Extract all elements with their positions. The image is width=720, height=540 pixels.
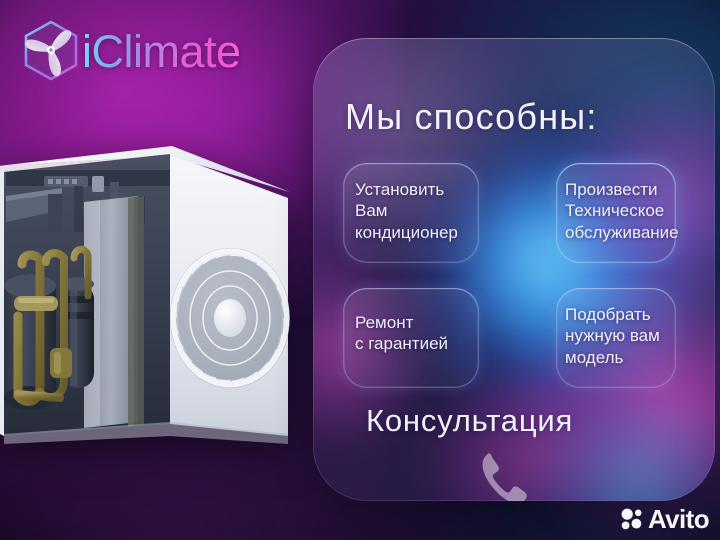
service-card-repair[interactable] bbox=[343, 288, 479, 388]
phone-handset-icon[interactable] bbox=[478, 450, 530, 501]
panel-title: Мы способны: bbox=[345, 96, 685, 138]
service-card-install[interactable] bbox=[343, 163, 479, 263]
consultation-label: Консультация bbox=[366, 403, 666, 439]
service-card-maintenance[interactable] bbox=[556, 163, 676, 263]
service-card-selection[interactable] bbox=[556, 288, 676, 388]
promo-banner: Мы способны: Установить Вам кондиционер … bbox=[0, 0, 720, 540]
avito-watermark: Avito bbox=[621, 506, 709, 532]
brand-logo[interactable]: iClimate bbox=[16, 16, 241, 86]
avito-dots-icon bbox=[621, 508, 643, 530]
air-conditioner-image bbox=[0, 136, 314, 448]
brand-name: iClimate bbox=[82, 29, 241, 74]
avito-wordmark: Avito bbox=[648, 506, 709, 532]
services-panel: Мы способны: Установить Вам кондиционер … bbox=[313, 38, 715, 501]
hexagon-fan-icon bbox=[16, 16, 86, 86]
